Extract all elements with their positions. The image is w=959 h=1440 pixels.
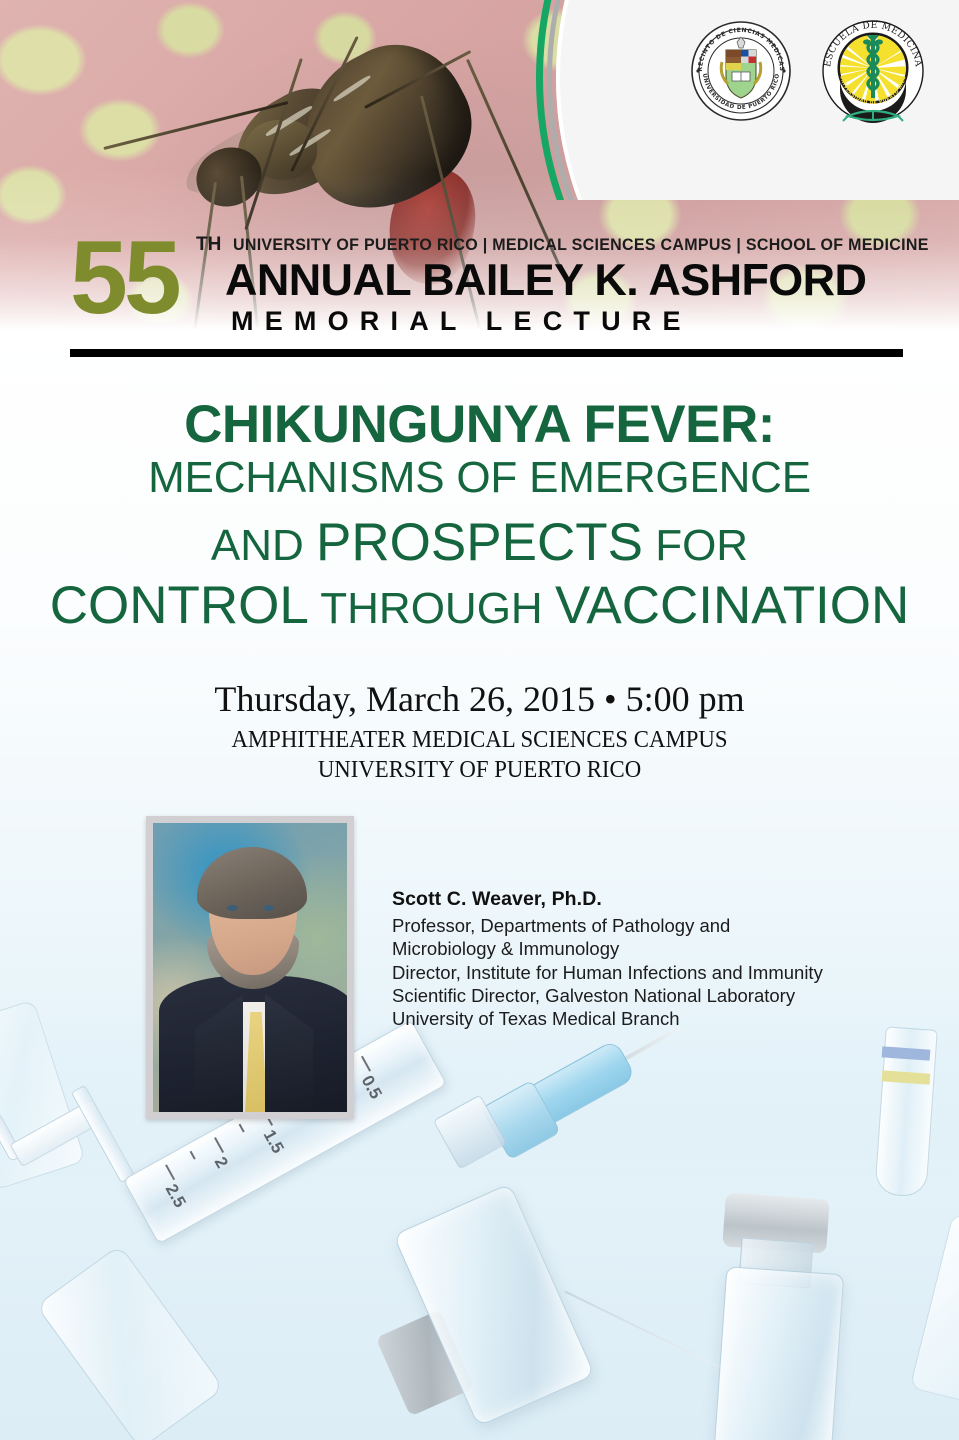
event-details: Thursday, March 26, 2015 • 5:00 pm AMPHI… [0,678,959,784]
graduation-label-2: 2 [210,1154,232,1172]
title-line-3-prospects: PROSPECTS [316,513,643,572]
graduation-tick [361,1056,371,1072]
header-lockup: 55 TH UNIVERSITY OF PUERTO RICO | MEDICA… [70,234,910,346]
title-line-4-through: THROUGH [320,584,542,633]
graduation-tick [214,1137,224,1153]
title-line-4-control: CONTROL [50,576,309,635]
title-line-3-and: AND [211,521,304,570]
speaker-affiliation: Scientific Director, Galveston National … [392,984,932,1007]
lecture-name: ANNUAL BAILEY K. ASHFORD [225,256,866,306]
lecture-type: MEMORIAL LECTURE [231,306,692,337]
event-date-time: Thursday, March 26, 2015 • 5:00 pm [0,678,959,720]
title-line-2: MECHANISMS OF EMERGENCE [0,456,959,500]
poster-canvas: RECINTO DE CIENCIAS MEDICAS UNIVERSIDAD … [0,0,959,1440]
institutions-line: UNIVERSITY OF PUERTO RICO | MEDICAL SCIE… [233,236,929,255]
title-line-4: CONTROL THROUGH VACCINATION [0,579,959,632]
event-venue-line-1: AMPHITHEATER MEDICAL SCIENCES CAMPUS [34,726,926,754]
speaker-photo-frame [146,816,354,1119]
header-divider-rule [70,349,903,357]
speaker-name: Scott C. Weaver, Ph.D. [392,888,932,911]
lecture-title-block: CHIKUNGUNYA FEVER: MECHANISMS OF EMERGEN… [0,398,959,632]
title-line-3-for: FOR [655,521,748,570]
graduation-tick [165,1165,175,1181]
speaker-portrait [153,823,347,1112]
edition-number: 55 [70,226,178,330]
speaker-affiliation: Professor, Departments of Pathology and [392,914,932,937]
speaker-affiliation: Microbiology & Immunology [392,937,932,960]
eye-left [227,905,238,911]
graduation-label-0-5: 0.5 [357,1072,386,1102]
eye-right [263,905,274,911]
graduation-tick [190,1151,196,1160]
graduation-label-1-5: 1.5 [259,1127,288,1157]
vaccine-equipment-photo: 2.5 2 1.5 1 0.5 [0,1000,959,1440]
speaker-affiliation: University of Texas Medical Branch [392,1007,932,1030]
title-line-1: CHIKUNGUNYA FEVER: [0,398,959,451]
speaker-info: Scott C. Weaver, Ph.D. Professor, Depart… [392,888,932,1030]
event-venue-line-2: UNIVERSITY OF PUERTO RICO [34,756,926,784]
title-line-3: AND PROSPECTS FOR [0,516,959,569]
edition-ordinal: TH [196,234,221,256]
speaker-affiliation: Director, Institute for Human Infections… [392,961,932,984]
graduation-label-2-5: 2.5 [161,1181,190,1211]
title-line-4-vaccination: VACCINATION [555,576,909,635]
escuela-de-medicina-seal: ESCUELA DE MEDICINA UNIVERSIDAD DE PUERT… [818,16,928,134]
recinto-de-ciencias-medicas-seal: RECINTO DE CIENCIAS MEDICAS UNIVERSIDAD … [686,16,796,134]
graduation-tick [239,1124,245,1133]
seals-group: RECINTO DE CIENCIAS MEDICAS UNIVERSIDAD … [686,16,928,134]
hair [197,847,307,919]
vial-right [710,1266,844,1440]
